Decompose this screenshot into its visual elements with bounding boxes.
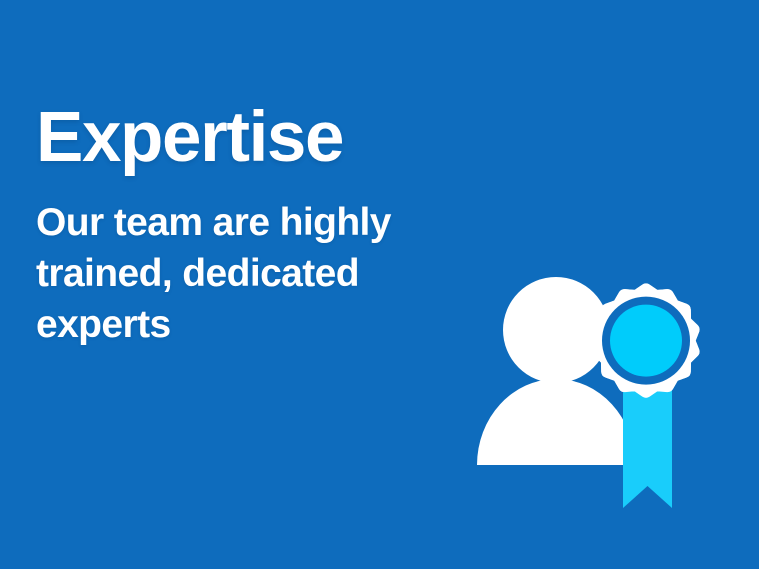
award-ribbon-icon xyxy=(623,390,672,508)
expert-person-award-icon xyxy=(462,262,714,520)
subtitle-text: Our team are highly trained, dedicated e… xyxy=(36,176,456,350)
slide-canvas: Expertise Our team are highly trained, d… xyxy=(0,0,759,569)
page-title: Expertise xyxy=(36,100,466,176)
award-center-disc-icon xyxy=(610,305,682,377)
person-body-icon xyxy=(477,379,635,465)
text-block: Expertise Our team are highly trained, d… xyxy=(36,100,466,350)
